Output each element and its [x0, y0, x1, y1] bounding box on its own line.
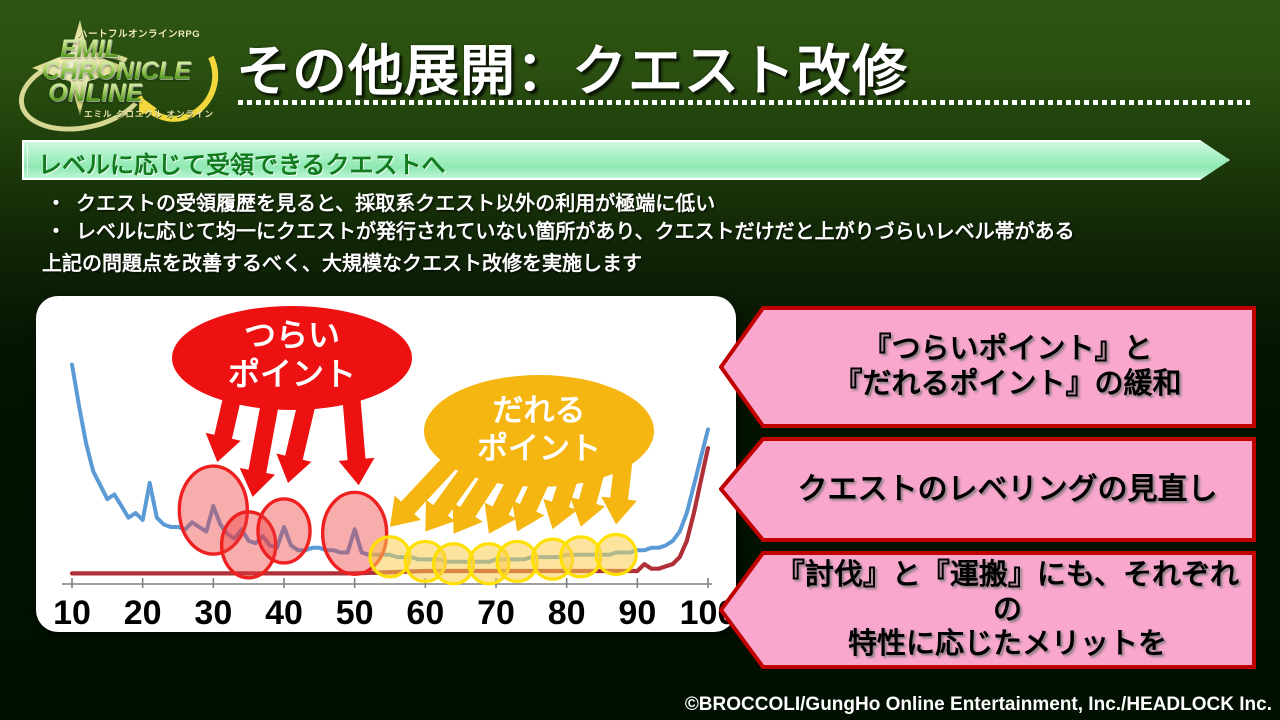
eco-logo: ハートフルオンラインRPG EMIL CHRONICLE ONLINE エミル … — [12, 14, 217, 118]
axis-tick-label: 40 — [265, 594, 303, 632]
axis-tick-label: 70 — [477, 594, 515, 632]
callout-banner-3: 『討伐』と『運搬』にも、それぞれの 特性に応じたメリットを — [719, 551, 1256, 669]
slide-root: ハートフルオンラインRPG EMIL CHRONICLE ONLINE エミル … — [0, 0, 1280, 720]
dareru-callout-bubble: だれる ポイント — [390, 375, 654, 534]
chart-yellow-highlights — [370, 534, 636, 583]
axis-tick-label: 20 — [124, 594, 162, 632]
bullet-text: クエストの受領履歴を見ると、採取系クエスト以外の利用が極端に低い — [76, 190, 715, 218]
summary-paragraph: 上記の問題点を改善するべく、大規模なクエスト改修を実施します — [36, 250, 1256, 278]
axis-tick-label: 50 — [336, 594, 374, 632]
axis-tick-label: 80 — [548, 594, 586, 632]
callout-2-text: クエストのレベリングの見直し — [773, 437, 1242, 542]
bullet-marker-icon: ・ — [36, 190, 76, 218]
section-banner: レベルに応じて受領できるクエストへ — [22, 140, 1230, 180]
chart-highlight-circle — [596, 534, 636, 574]
logo-subtitle: エミル クロニクル オンライン — [84, 108, 214, 120]
callout-3-line1: 『討伐』と『運搬』にも、それぞれの — [773, 558, 1242, 628]
axis-tick-label: 60 — [406, 594, 444, 632]
list-item: ・ クエストの受領履歴を見ると、採取系クエスト以外の利用が極端に低い — [36, 190, 1256, 218]
list-item: ・ レベルに応じて均一にクエストが発行されていない箇所があり、クエストだけだと上… — [36, 218, 1256, 246]
chart-x-tick-labels: 102030405060708090100 — [53, 594, 736, 632]
callout-3-text: 『討伐』と『運搬』にも、それぞれの 特性に応じたメリットを — [773, 551, 1242, 669]
callout-banner-1: 『つらいポイント』と 『だれるポイント』の緩和 — [719, 306, 1256, 428]
callout-1-text: 『つらいポイント』と 『だれるポイント』の緩和 — [773, 306, 1242, 428]
bullet-text: レベルに応じて均一にクエストが発行されていない箇所があり、クエストだけだと上がり… — [76, 218, 1075, 246]
axis-tick-label: 10 — [53, 594, 91, 632]
bullet-marker-icon: ・ — [36, 218, 76, 246]
callout-3-line2: 特性に応じたメリットを — [848, 627, 1167, 662]
dareru-label-line2: ポイント — [477, 431, 601, 466]
tsurai-label-line2: ポイント — [228, 356, 356, 392]
chart-highlight-circle — [370, 537, 410, 577]
chart-x-axis — [62, 578, 712, 588]
callout-1-line2: 『だれるポイント』の緩和 — [833, 367, 1181, 402]
axis-tick-label: 90 — [618, 594, 656, 632]
chart-highlight-ellipse — [258, 499, 310, 563]
logo-line-3: ONLINE — [48, 79, 142, 108]
banner-label: レベルに応じて受領できるクエストへ — [38, 145, 446, 180]
bullet-list: ・ クエストの受領履歴を見ると、採取系クエスト以外の利用が極端に低い ・ レベル… — [36, 190, 1256, 278]
chart-card: だれる ポイント つらい ポイント 102030405060708090100 — [36, 296, 736, 632]
page-title: その他展開：クエスト改修 — [236, 26, 908, 106]
axis-tick-label: 30 — [194, 594, 232, 632]
tsurai-label-line1: つらい — [244, 317, 340, 353]
chart-red-highlights — [179, 466, 386, 578]
callout-1-line1: 『つらいポイント』と — [862, 332, 1152, 367]
copyright-notice: ©BROCCOLI/GungHo Online Entertainment, I… — [685, 694, 1272, 716]
dareru-label-line1: だれる — [493, 393, 586, 428]
slide-header: ハートフルオンラインRPG EMIL CHRONICLE ONLINE エミル … — [0, 0, 1280, 128]
callout-banner-2: クエストのレベリングの見直し — [719, 437, 1256, 542]
quest-usage-line-chart: だれる ポイント つらい ポイント 102030405060708090100 — [36, 296, 736, 632]
title-underline-divider — [238, 100, 1250, 105]
callout-2-line1: クエストのレベリングの見直し — [798, 472, 1218, 508]
